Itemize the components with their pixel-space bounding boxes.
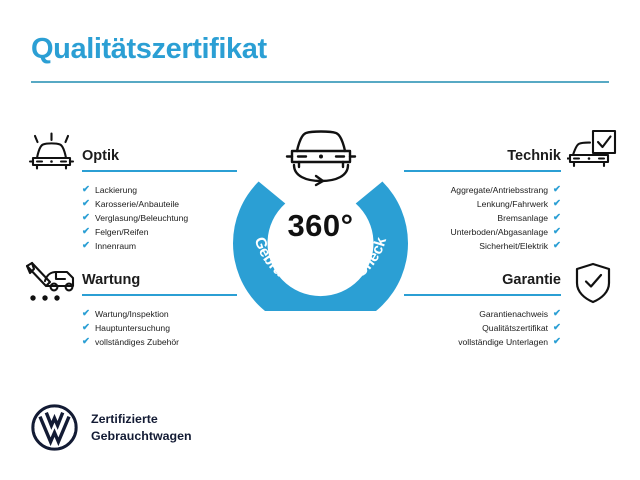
check-icon: ✔ <box>553 213 561 223</box>
section-technik: Technik ✔Aggregate/Antriebsstrang ✔Lenku… <box>404 148 561 253</box>
list-item-label: Aggregate/Antriebsstrang <box>451 185 548 195</box>
list-item-label: Lackierung <box>95 185 137 195</box>
section-garantie-title: Garantie <box>502 272 561 288</box>
list-item: ✔Wartung/Inspektion <box>82 307 237 321</box>
list-item: ✔Verglasung/Beleuchtung <box>82 211 237 225</box>
section-technik-underline <box>404 170 561 172</box>
list-item-label: Qualitätszertifikat <box>482 323 548 333</box>
check-icon: ✔ <box>553 337 561 347</box>
section-wartung-header: Wartung <box>82 272 237 298</box>
list-item-label: vollständige Unterlagen <box>458 337 548 347</box>
certificate-page: Qualitätszertifikat <box>0 0 640 480</box>
check-icon: ✔ <box>82 309 90 319</box>
section-technik-items: ✔Aggregate/Antriebsstrang ✔Lenkung/Fahrw… <box>404 183 561 253</box>
list-item: ✔Hauptuntersuchung <box>82 321 237 335</box>
check-icon: ✔ <box>553 227 561 237</box>
list-item: ✔Innenraum <box>82 239 237 253</box>
list-item: ✔Unterboden/Abgasanlage <box>404 225 561 239</box>
section-wartung-items: ✔Wartung/Inspektion ✔Hauptuntersuchung ✔… <box>82 307 237 349</box>
section-garantie-underline <box>404 294 561 296</box>
list-item-label: Garantienachweis <box>479 309 548 319</box>
section-wartung-underline <box>82 294 237 296</box>
vw-logo <box>31 404 78 451</box>
page-title: Qualitätszertifikat <box>31 33 267 66</box>
list-item: ✔Felgen/Reifen <box>82 225 237 239</box>
list-item: ✔Lenkung/Fahrwerk <box>404 197 561 211</box>
footer-text: Zertifizierte Gebrauchtwagen <box>91 411 192 444</box>
list-item: ✔Karosserie/Anbauteile <box>82 197 237 211</box>
list-item-label: Felgen/Reifen <box>95 227 149 237</box>
section-garantie-header: Garantie <box>404 272 561 298</box>
check-icon: ✔ <box>82 337 90 347</box>
list-item: ✔vollständiges Zubehör <box>82 335 237 349</box>
car-rotate-icon <box>280 124 362 190</box>
wrench-car-icon <box>23 261 78 308</box>
list-item-label: Unterboden/Abgasanlage <box>451 227 548 237</box>
car-checkbox-icon <box>567 129 619 178</box>
section-optik-items: ✔Lackierung ✔Karosserie/Anbauteile ✔Verg… <box>82 183 237 253</box>
list-item-label: Bremsanlage <box>497 213 548 223</box>
list-item: ✔Aggregate/Antriebsstrang <box>404 183 561 197</box>
check-icon: ✔ <box>553 309 561 319</box>
section-optik-title: Optik <box>82 148 119 164</box>
section-optik-header: Optik <box>82 148 237 174</box>
check-icon: ✔ <box>82 323 90 333</box>
list-item: ✔Garantienachweis <box>404 307 561 321</box>
list-item: ✔Qualitätszertifikat <box>404 321 561 335</box>
list-item-label: Innenraum <box>95 241 136 251</box>
check-icon: ✔ <box>82 241 90 251</box>
list-item: ✔Lackierung <box>82 183 237 197</box>
check-icon: ✔ <box>82 185 90 195</box>
check-icon: ✔ <box>82 199 90 209</box>
list-item: ✔vollständige Unterlagen <box>404 335 561 349</box>
badge-360-gebrauchtwagen-check: Gebrauchtwagen-Check 360° <box>233 136 408 311</box>
check-icon: ✔ <box>553 185 561 195</box>
list-item-label: Sicherheit/Elektrik <box>479 241 548 251</box>
check-icon: ✔ <box>553 199 561 209</box>
list-item-label: Verglasung/Beleuchtung <box>95 213 188 223</box>
list-item: ✔Sicherheit/Elektrik <box>404 239 561 253</box>
section-optik-underline <box>82 170 237 172</box>
list-item-label: Karosserie/Anbauteile <box>95 199 179 209</box>
check-icon: ✔ <box>82 213 90 223</box>
check-icon: ✔ <box>553 323 561 333</box>
list-item-label: Wartung/Inspektion <box>95 309 169 319</box>
section-technik-header: Technik <box>404 148 561 174</box>
check-icon: ✔ <box>553 241 561 251</box>
list-item: ✔Bremsanlage <box>404 211 561 225</box>
section-garantie: Garantie ✔Garantienachweis ✔Qualitätszer… <box>404 272 561 349</box>
section-wartung: Wartung ✔Wartung/Inspektion ✔Hauptunters… <box>82 272 237 349</box>
section-optik: Optik ✔Lackierung ✔Karosserie/Anbauteile… <box>82 148 237 253</box>
badge-degrees-label: 360° <box>233 208 408 244</box>
section-garantie-items: ✔Garantienachweis ✔Qualitätszertifikat ✔… <box>404 307 561 349</box>
car-shine-icon <box>26 131 78 178</box>
list-item-label: Hauptuntersuchung <box>95 323 170 333</box>
list-item-label: vollständiges Zubehör <box>95 337 179 347</box>
shield-check-icon <box>572 261 614 310</box>
footer-brand: Zertifizierte Gebrauchtwagen <box>31 404 192 451</box>
check-icon: ✔ <box>82 227 90 237</box>
section-wartung-title: Wartung <box>82 272 140 288</box>
section-technik-title: Technik <box>507 148 561 164</box>
header-divider <box>31 81 609 83</box>
list-item-label: Lenkung/Fahrwerk <box>477 199 548 209</box>
